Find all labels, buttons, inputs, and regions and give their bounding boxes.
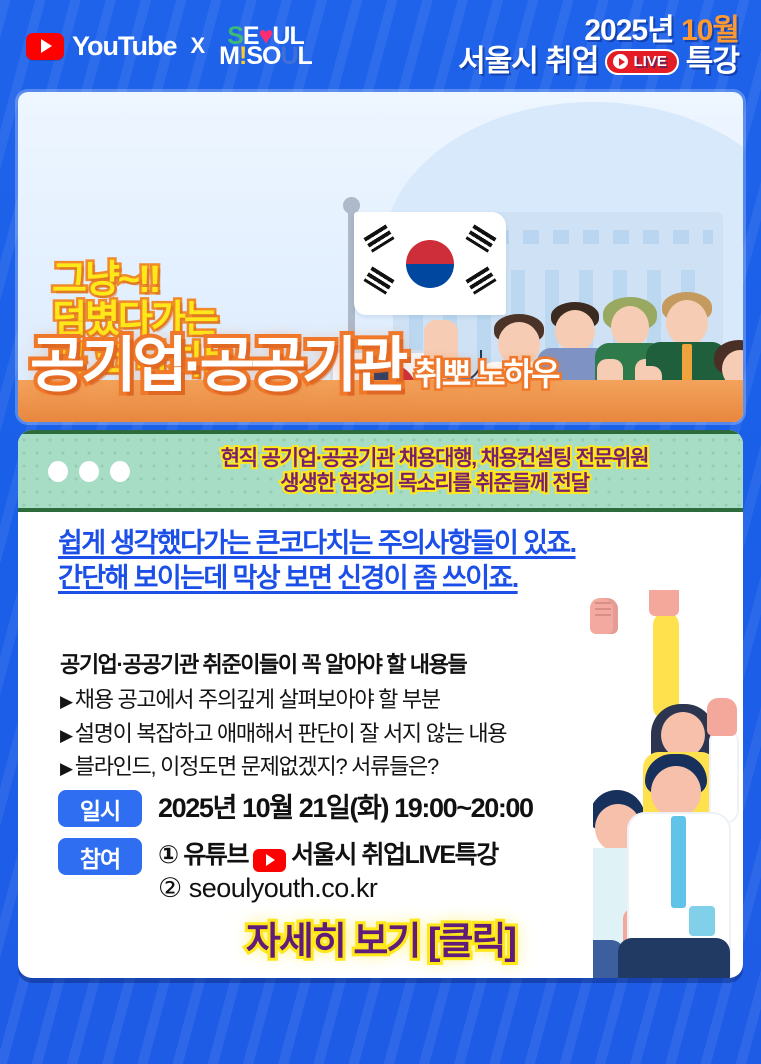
bullet-list-title: 공기업·공공기관 취준이들이 꼭 알아야 할 내용들 — [60, 648, 506, 681]
join-website-link[interactable]: ② seoulyouth.co.kr — [158, 873, 377, 903]
header-date-line: 2025년 10월 — [458, 15, 739, 47]
header-month-text: 10월 — [681, 14, 739, 47]
list-item-label: 블라인드, 이정도면 문제없겠지? 서류들은? — [75, 754, 438, 779]
youtube-mini-icon — [253, 849, 286, 872]
dots-icon — [40, 461, 130, 482]
content-card: 현직 공기업·공공기관 채용대행, 채용컨설팅 전문위원 생생한 현장의 목소리… — [18, 430, 743, 978]
list-item-label: 채용 공고에서 주의깊게 살펴보아야 할 부분 — [75, 687, 440, 712]
join-label-badge: 참여 — [58, 838, 142, 875]
youtube-label: YouTube — [72, 31, 176, 62]
brand-lockup: YouTube X SE♥UL M!SOUL — [26, 26, 312, 67]
main-title-subtext: 취뽀 노하우 — [414, 358, 558, 396]
speaker-banner-text: 현직 공기업·공공기관 채용대행, 채용컨설팅 전문위원 생생한 현장의 목소리… — [148, 446, 721, 496]
card-headline-block: 쉽게 생각했다가는 큰코다치는 주의사항들이 있죠. 간단해 보이는데 막상 보… — [58, 526, 576, 595]
bullet-marker-icon: ▶ — [60, 692, 72, 711]
event-info-block: 일시 2025년 10월 21일(화) 19:00~20:00 참여 ① 유튜브… — [58, 790, 658, 915]
live-play-icon — [613, 54, 628, 69]
youtube-play-icon — [26, 33, 64, 60]
celebration-foreground-shape — [618, 938, 730, 978]
korean-flag-icon — [354, 212, 506, 315]
trigram-icon — [465, 266, 496, 294]
live-badge: LIVE — [605, 49, 678, 75]
date-label-badge: 일시 — [58, 790, 142, 827]
main-title-text: 공기업·공공기관 — [30, 336, 404, 396]
bullet-marker-icon: ▶ — [60, 759, 72, 778]
celebration-illustration — [593, 590, 743, 978]
event-date-value: 2025년 10월 21일(화) 19:00~20:00 — [158, 790, 533, 825]
join-line1-post: 서울시 취업LIVE특강 — [291, 841, 498, 869]
list-item: ▶블라인드, 이정도면 문제없겠지? 서류들은? — [60, 750, 506, 783]
bullet-list: 공기업·공공기관 취준이들이 꼭 알아야 할 내용들 ▶채용 공고에서 주의깊게… — [60, 648, 506, 784]
event-join-row: 참여 ① 유튜브서울시 취업LIVE특강 ② seoulyouth.co.kr — [58, 838, 658, 904]
trigram-icon — [465, 224, 496, 252]
speaker-banner: 현직 공기업·공공기관 채용대행, 채용컨설팅 전문위원 생생한 현장의 목소리… — [18, 430, 743, 512]
header-program-pre: 서울시 취업 — [458, 46, 598, 78]
card-headline-line1: 쉽게 생각했다가는 큰코다치는 주의사항들이 있죠. — [58, 526, 576, 561]
header-year-text: 2025년 — [584, 14, 681, 47]
seoul-logo-line2: M!SOUL — [219, 46, 312, 67]
join-line1-pre: ① 유튜브 — [158, 841, 248, 869]
bullet-marker-icon: ▶ — [60, 726, 72, 745]
youtube-logo: YouTube — [26, 31, 176, 62]
list-item: ▶설명이 복잡하고 애매해서 판단이 잘 서지 않는 내용 — [60, 717, 506, 750]
join-channel-line: ① 유튜브서울시 취업LIVE특강 — [158, 841, 498, 869]
event-date-row: 일시 2025년 10월 21일(화) 19:00~20:00 — [58, 790, 658, 827]
trigram-icon — [363, 224, 394, 252]
poster-header: YouTube X SE♥UL M!SOUL 2025년 10월 서울시 취업 … — [0, 0, 761, 92]
card-headline-line2: 간단해 보이는데 막상 보면 신경이 좀 쓰이죠. — [58, 561, 576, 596]
event-join-values: ① 유튜브서울시 취업LIVE특강 ② seoulyouth.co.kr — [158, 838, 498, 904]
speaker-banner-line1: 현직 공기업·공공기관 채용대행, 채용컨설팅 전문위원 — [148, 446, 721, 471]
header-program-line: 서울시 취업 LIVE 특강 — [458, 46, 739, 78]
header-title-block: 2025년 10월 서울시 취업 LIVE 특강 — [458, 15, 739, 78]
poster-main-title: 공기업·공공기관 취뽀 노하우 — [30, 336, 558, 396]
collab-x-label: X — [190, 33, 205, 59]
cta-label[interactable]: 자세히 보기 [클릭] — [246, 921, 515, 963]
live-badge-label: LIVE — [633, 54, 666, 70]
hero-headline-line1: 그냥~!! — [52, 260, 234, 300]
header-program-post: 특강 — [686, 46, 739, 78]
list-item-label: 설명이 복잡하고 애매해서 판단이 잘 서지 않는 내용 — [75, 721, 506, 746]
speaker-banner-line2: 생생한 현장의 목소리를 취준들께 전달 — [148, 471, 721, 496]
list-item: ▶채용 공고에서 주의깊게 살펴보아야 할 부분 — [60, 683, 506, 716]
poster-root: YouTube X SE♥UL M!SOUL 2025년 10월 서울시 취업 … — [0, 0, 761, 1064]
trigram-icon — [363, 266, 394, 294]
taeguk-symbol — [406, 240, 454, 288]
seoul-my-soul-logo: SE♥UL M!SOUL — [219, 26, 312, 67]
